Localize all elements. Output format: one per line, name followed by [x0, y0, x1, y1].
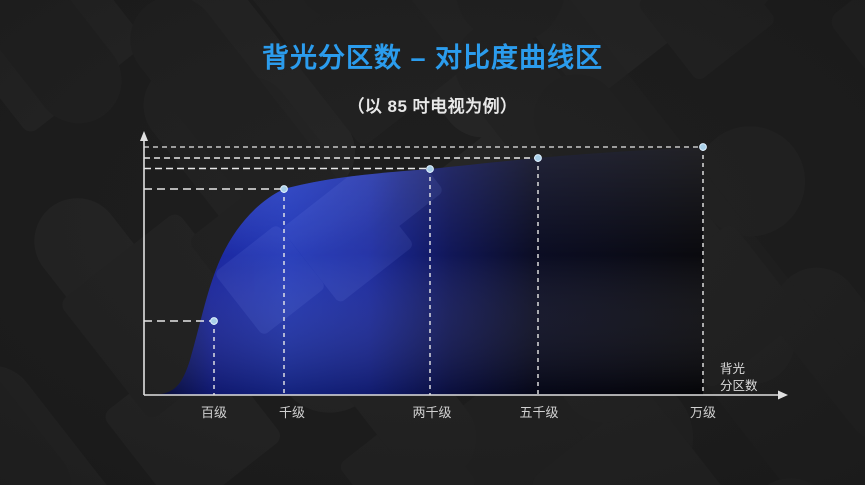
x-tick-wanji: 万级 [690, 402, 716, 421]
x-axis-title-line1: 背光 [720, 361, 758, 378]
x-tick-qianji: 千级 [279, 402, 305, 421]
slide-canvas: 背光分区数 – 对比度曲线区 （以 85 吋电视为例） [0, 0, 865, 485]
x-tick-liangqianji: 两千级 [412, 402, 451, 421]
y-axis-labels: 对比度 12.5x 10x 7.5x 5x 2.5x [0, 0, 138, 485]
x-axis-title-line2: 分区数 [720, 378, 758, 395]
x-axis-title: 背光 分区数 [720, 361, 758, 395]
x-tick-baiji: 百级 [201, 402, 227, 421]
area-fill [144, 125, 704, 396]
x-tick-wuqianji: 五千级 [519, 402, 558, 421]
